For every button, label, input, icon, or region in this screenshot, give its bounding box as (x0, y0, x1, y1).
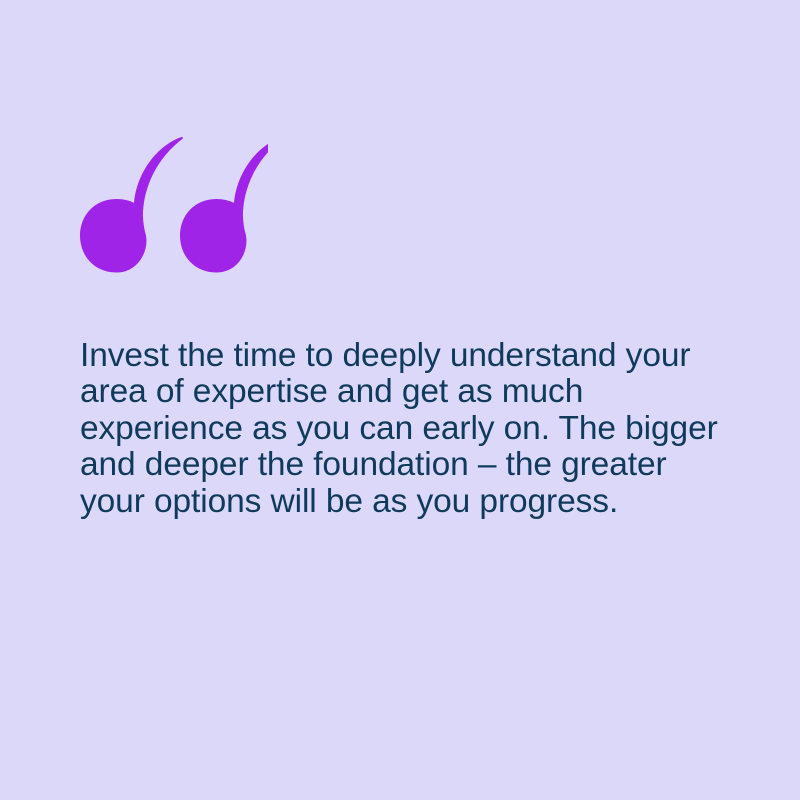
quote-glyph-right (180, 137, 268, 273)
quote-glyph-left (80, 137, 183, 273)
double-quotation-mark-icon (78, 136, 268, 281)
quote-card: Invest the time to deeply understand you… (0, 0, 800, 800)
quote-text: Invest the time to deeply understand you… (80, 338, 760, 520)
